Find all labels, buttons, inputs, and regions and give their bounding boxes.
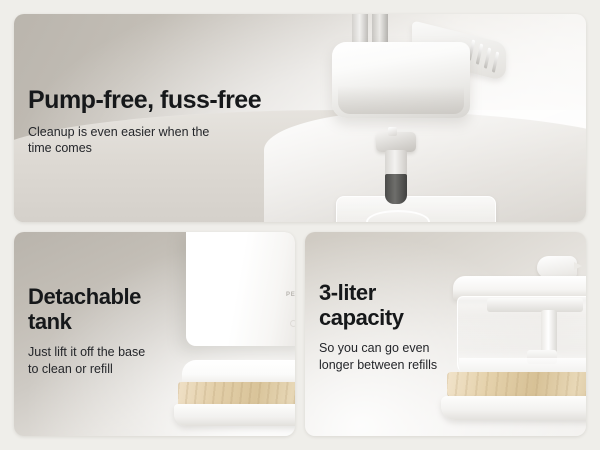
power-indicator-icon xyxy=(290,320,295,327)
pump-rib-icon xyxy=(484,47,492,69)
feature-card-pump-free[interactable]: Pump-free, fuss-free Cleanup is even eas… xyxy=(14,14,586,222)
detachable-tank-title: Detachable tank xyxy=(28,284,208,334)
pump-rib-icon xyxy=(476,43,484,65)
bird-spout-icon xyxy=(537,256,577,278)
pump-rib-icon xyxy=(492,51,500,73)
valve-filter-cartridge xyxy=(385,174,407,204)
feature-card-grid: Pump-free, fuss-free Cleanup is even eas… xyxy=(0,0,600,450)
pump-free-title: Pump-free, fuss-free xyxy=(28,86,278,115)
detachable-tank-copy-block: Detachable tank Just lift it off the bas… xyxy=(28,284,208,377)
feature-card-3-liter-capacity[interactable]: 3-liter capacity So you can go even long… xyxy=(305,232,586,436)
pump-head xyxy=(332,42,470,118)
pump-free-subtitle: Cleanup is even easier when the time com… xyxy=(28,124,278,157)
pump-free-copy-block: Pump-free, fuss-free Cleanup is even eas… xyxy=(28,86,278,157)
valve-cap xyxy=(376,132,416,152)
feature-card-detachable-tank[interactable]: PET Detachable tank Just lift it off the… xyxy=(14,232,295,436)
capacity-title: 3-liter capacity xyxy=(319,280,487,330)
base-bottom-shell xyxy=(174,404,295,426)
product-brand-mark: PET xyxy=(286,292,295,298)
center-column xyxy=(541,310,557,364)
base-bottom-shell xyxy=(441,396,586,420)
detachable-tank-subtitle: Just lift it off the base to clean or re… xyxy=(28,344,208,377)
inner-shelf xyxy=(487,298,583,312)
capacity-subtitle: So you can go even longer between refill… xyxy=(319,340,487,373)
capacity-copy-block: 3-liter capacity So you can go even long… xyxy=(319,280,487,373)
